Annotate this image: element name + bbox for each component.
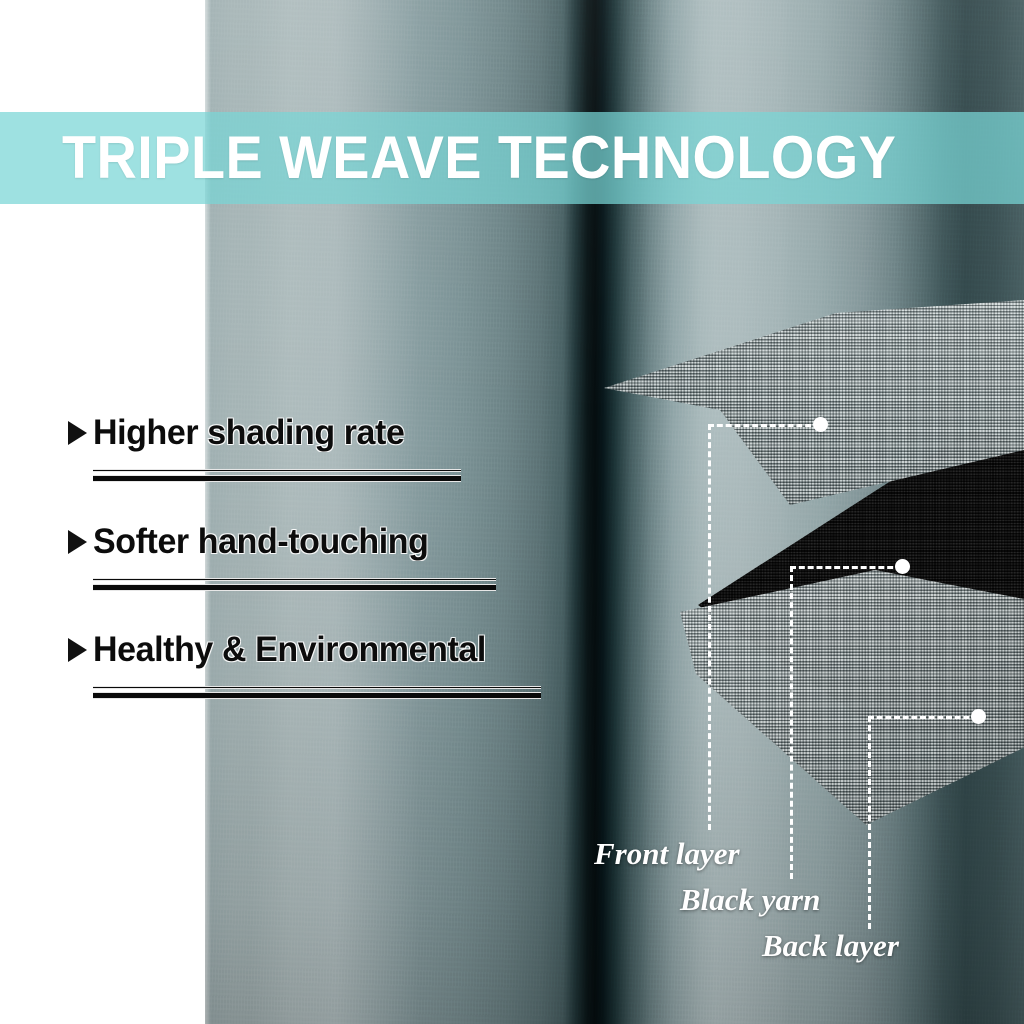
leader-line-front-horizontal (708, 424, 820, 427)
leader-line-back-vertical (868, 716, 871, 929)
leader-line-yarn-vertical (790, 566, 793, 879)
fabric-layer-diagram: Front layer Black yarn Back layer (0, 0, 1024, 1024)
dot-marker-icon (813, 417, 828, 432)
leader-line-back-horizontal (868, 716, 978, 719)
dot-marker-icon (971, 709, 986, 724)
product-feature-image: TRIPLE WEAVE TECHNOLOGY Higher shading r… (0, 0, 1024, 1024)
back-layer-shading (660, 570, 1024, 870)
callout-label-front-layer: Front layer (594, 838, 740, 869)
callout-label-black-yarn: Black yarn (680, 884, 820, 915)
leader-line-yarn-horizontal (790, 566, 902, 569)
dot-marker-icon (895, 559, 910, 574)
leader-line-front-vertical (708, 424, 711, 830)
callout-label-back-layer: Back layer (762, 930, 899, 961)
